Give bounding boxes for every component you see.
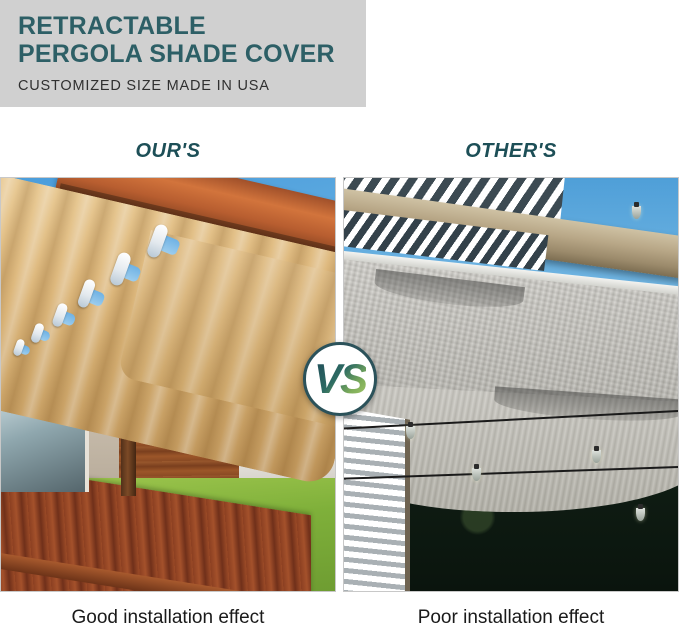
photo-others	[343, 177, 679, 592]
column-heading-ours: OUR'S	[0, 140, 336, 163]
header-banner: RETRACTABLE PERGOLA SHADE COVER CUSTOMIZ…	[0, 0, 366, 107]
vs-badge: VS	[303, 342, 377, 416]
caption-poor-installation: Poor installation effect	[343, 604, 679, 632]
column-heading-others: OTHER'S	[343, 140, 679, 163]
vs-label: VS	[314, 358, 366, 400]
product-subtitle: CUSTOMIZED SIZE MADE IN USA	[18, 78, 366, 94]
white-louvered-shutter	[343, 406, 410, 592]
product-comparison-image: RETRACTABLE PERGOLA SHADE COVER CUSTOMIZ…	[0, 0, 679, 635]
caption-good-installation: Good installation effect	[0, 604, 336, 632]
photo-ours	[0, 177, 336, 592]
product-title: RETRACTABLE PERGOLA SHADE COVER	[18, 12, 366, 69]
